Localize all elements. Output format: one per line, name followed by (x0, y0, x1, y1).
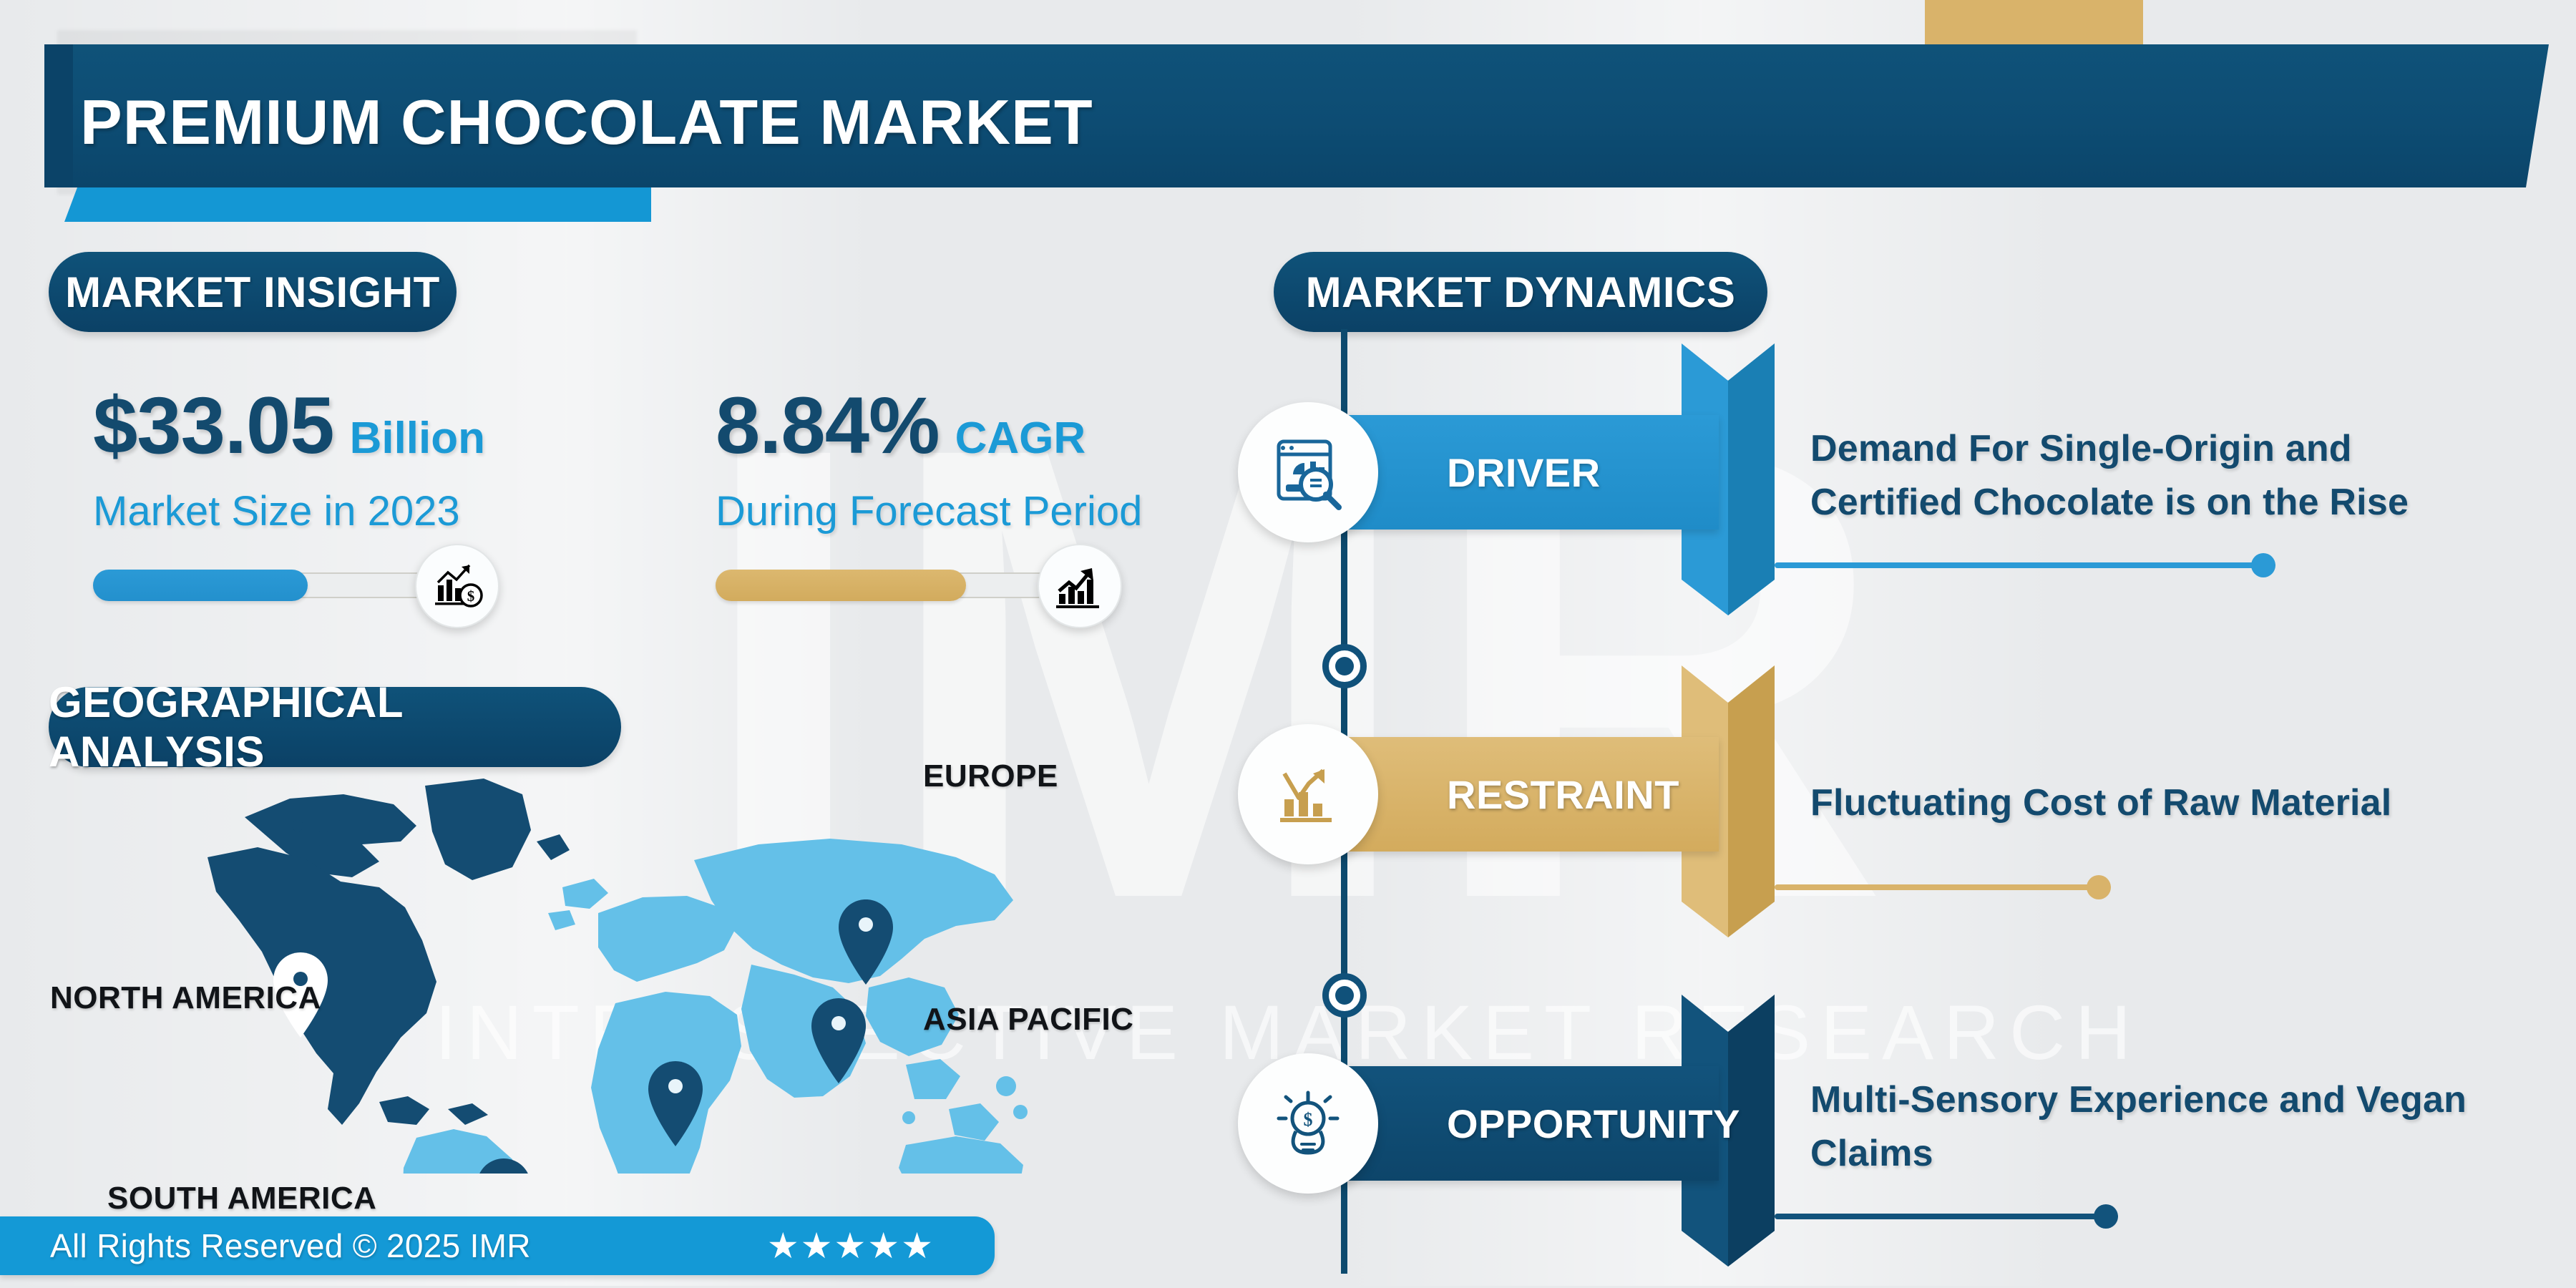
dynamics-row-restraint: RESTRAINT Fluctuating Cost of Raw Materi… (1274, 737, 2562, 852)
svg-text:$: $ (467, 587, 475, 605)
restraint-underline (1775, 884, 2111, 890)
bar-fill (716, 570, 966, 601)
stat-cagr-caption: During Forecast Period (716, 487, 1142, 535)
driver-text-line: Certified Chocolate is on the Rise (1810, 476, 2540, 530)
map-label-europe: EUROPE (923, 758, 1058, 794)
stat-cagr-unit: CAGR (955, 413, 1086, 464)
bar-chart-dollar-icon: $ (415, 544, 499, 628)
stat-cagr-value: 8.84% (716, 379, 940, 472)
header-left-tab (44, 44, 73, 187)
bar-fill (93, 570, 308, 601)
stat-market-size-caption: Market Size in 2023 (93, 487, 485, 535)
dynamics-row-opportunity: OPPORTUNITY $ Multi-Sensory Experience a… (1274, 1066, 2562, 1181)
driver-underline (1775, 562, 2275, 568)
stat-cagr-bar (716, 570, 1102, 601)
driver-underline-dot (2251, 553, 2275, 577)
market-dynamics-timeline: DRIVER Demand For Single-Origin and Cert… (1274, 329, 2562, 1288)
world-map-svg (165, 773, 1088, 1174)
svg-text:$: $ (1304, 1109, 1313, 1130)
map-region-asia (694, 839, 1028, 1141)
market-insight-pill: MARKET INSIGHT (49, 252, 457, 332)
footer-copyright: All Rights Reserved © 2025 IMR (50, 1226, 531, 1265)
timeline-node (1322, 973, 1367, 1018)
footer-star-rating: ★★★★★ (767, 1225, 935, 1267)
driver-plate: DRIVER (1318, 415, 1719, 530)
restraint-underline-dot (2087, 875, 2111, 899)
analytics-magnifier-icon (1238, 402, 1378, 542)
opportunity-text-line: Claims (1810, 1127, 2540, 1181)
declining-bar-chart-icon (1238, 724, 1378, 864)
opportunity-label: OPPORTUNITY (1447, 1101, 1740, 1147)
opportunity-text-line: Multi-Sensory Experience and Vegan (1810, 1073, 2540, 1127)
driver-text-line: Demand For Single-Origin and (1810, 422, 2540, 476)
map-label-north-america: NORTH AMERICA (50, 980, 321, 1016)
world-map: NORTH AMERICA SOUTH AMERICA EUROPE ASIA … (165, 773, 1088, 1174)
opportunity-text: Multi-Sensory Experience and Vegan Claim… (1810, 1073, 2540, 1181)
restraint-text: Fluctuating Cost of Raw Material (1810, 776, 2540, 830)
footer-bar: All Rights Reserved © 2025 IMR ★★★★★ (0, 1216, 995, 1275)
opportunity-underline-dot (2094, 1204, 2118, 1229)
map-label-south-america: SOUTH AMERICA (107, 1181, 376, 1216)
lightbulb-dollar-icon: $ (1238, 1053, 1378, 1194)
driver-label: DRIVER (1447, 449, 1601, 496)
page-title: PREMIUM CHOCOLATE MARKET (80, 86, 1093, 159)
restraint-plate: RESTRAINT (1318, 737, 1719, 852)
growth-chart-arrow-icon (1038, 544, 1122, 628)
map-label-asia-pacific: ASIA PACIFIC (923, 1002, 1133, 1038)
driver-text: Demand For Single-Origin and Certified C… (1810, 422, 2540, 530)
restraint-text-line: Fluctuating Cost of Raw Material (1810, 776, 2540, 830)
map-region-north-america (208, 779, 570, 1125)
market-dynamics-pill: MARKET DYNAMICS (1274, 252, 1767, 332)
stat-market-size-unit: Billion (350, 413, 485, 464)
timeline-node (1322, 644, 1367, 688)
stat-cagr: 8.84% CAGR During Forecast Period (716, 379, 1142, 601)
stat-market-size-bar: $ (93, 570, 479, 601)
opportunity-plate: OPPORTUNITY (1318, 1066, 1719, 1181)
geographical-analysis-pill: GEOGRAPHICAL ANALYSIS (49, 687, 621, 767)
restraint-label: RESTRAINT (1447, 771, 1679, 818)
stat-market-size-value: $33.05 (93, 379, 334, 472)
map-region-australia (899, 1136, 1068, 1174)
header-underline-accent (64, 187, 651, 222)
stat-market-size: $33.05 Billion Market Size in 2023 $ (93, 379, 485, 601)
dynamics-row-driver: DRIVER Demand For Single-Origin and Cert… (1274, 415, 2562, 530)
opportunity-underline (1775, 1214, 2118, 1219)
